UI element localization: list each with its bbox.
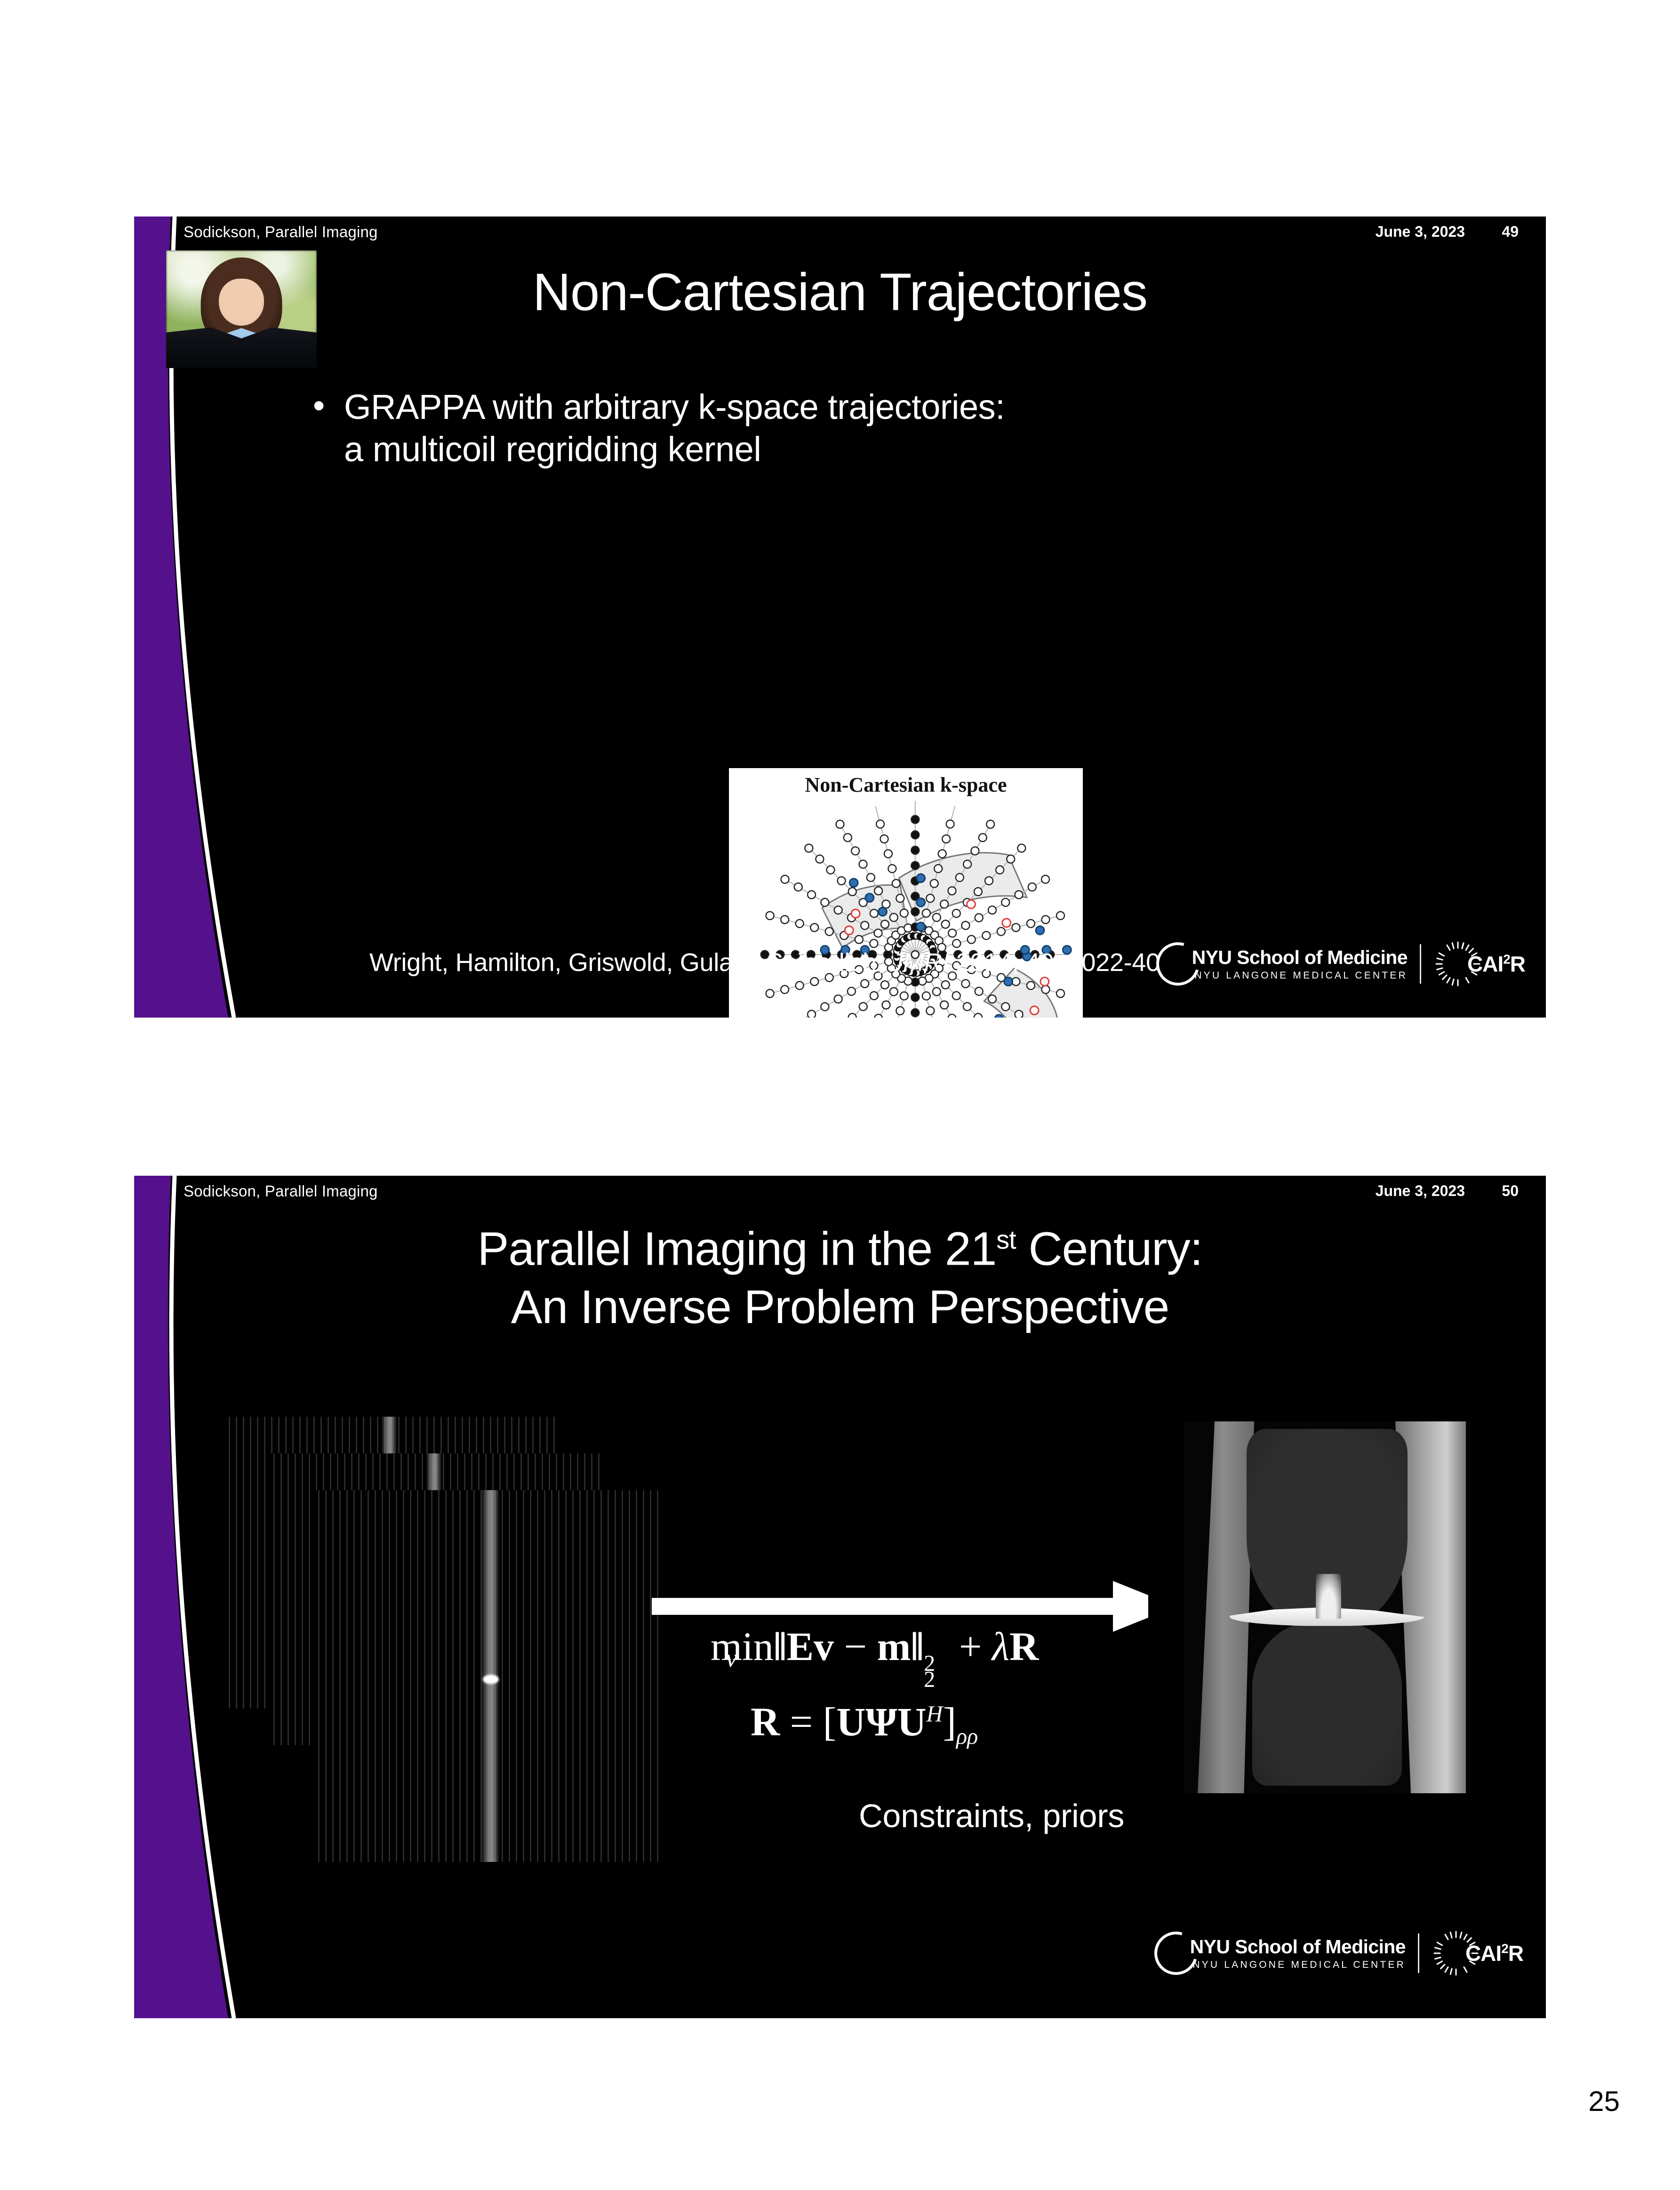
slide-title-line-2: An Inverse Problem Perspective <box>134 1278 1546 1336</box>
slide-header: Sodickson, Parallel Imaging June 3, 2023… <box>134 1176 1546 1210</box>
slide-title: Parallel Imaging in the 21st Century: An… <box>134 1211 1546 1336</box>
footer-logos: NYU School of Medicine NYU LANGONE MEDIC… <box>1157 1929 1523 1978</box>
slide-header: Sodickson, Parallel Imaging June 3, 2023… <box>134 217 1546 250</box>
constraints-priors-label: Constraints, priors <box>859 1797 1124 1835</box>
coil-kspace-image-3 <box>315 1490 659 1862</box>
nyu-logo: NYU School of Medicine NYU LANGONE MEDIC… <box>1157 1929 1406 1978</box>
header-date: June 3, 2023 <box>1376 223 1465 241</box>
nyu-logo-line2: NYU LANGONE MEDICAL CENTER <box>1190 1959 1406 1971</box>
header-slide-number: 50 <box>1502 1182 1519 1200</box>
citation-authors: Wright, Hamilton, Griswold, Gulani, Seib… <box>369 948 890 977</box>
cai2r-burst-icon <box>1432 938 1484 990</box>
logo-divider <box>1420 944 1421 984</box>
bullet-item: • GRAPPA with arbitrary k-space trajecto… <box>313 386 1348 471</box>
multicoil-kspace-stack <box>226 1417 701 1892</box>
cai2r-burst-icon <box>1430 1927 1482 1980</box>
printed-slide-page: Sodickson, Parallel Imaging June 3, 2023… <box>0 0 1680 2190</box>
bullet-marker-icon: • <box>313 386 344 425</box>
slide-title-line-1: Parallel Imaging in the 21st Century: <box>134 1211 1546 1278</box>
header-slide-number: 49 <box>1502 223 1519 241</box>
bullet-line-2: a multicoil regridding kernel <box>344 428 1005 471</box>
nyu-logo-line1: NYU School of Medicine <box>1190 1936 1406 1958</box>
bullet-line-1: GRAPPA with arbitrary k-space trajectori… <box>344 386 1005 428</box>
footer-logos: NYU School of Medicine NYU LANGONE MEDIC… <box>1159 939 1525 988</box>
bullet-text: GRAPPA with arbitrary k-space trajectori… <box>344 386 1005 471</box>
knee-mri-image <box>1184 1421 1471 1793</box>
page-number: 25 <box>1588 2085 1620 2118</box>
regularizer-equation: R = [UΨUH]ρρ <box>751 1698 978 1749</box>
cai2r-logo: CAI2R <box>1433 939 1525 988</box>
header-presenter-label: Sodickson, Parallel Imaging <box>184 223 378 241</box>
objective-equation: minv‖Ev − m‖22 + λR <box>711 1623 1039 1670</box>
nyu-logo: NYU School of Medicine NYU LANGONE MEDIC… <box>1159 939 1408 988</box>
bullet-list: • GRAPPA with arbitrary k-space trajecto… <box>313 386 1348 471</box>
nyu-ring-icon <box>1148 935 1207 993</box>
knee-soft-tissue-left <box>1198 1421 1254 1793</box>
logo-divider <box>1418 1933 1419 1973</box>
figure-citation: Wright, Hamilton, Griswold, Gulani, Seib… <box>369 948 1160 977</box>
reconstructed-knee-mri <box>1148 1421 1506 1845</box>
nyu-ring-icon <box>1146 1924 1205 1982</box>
header-presenter-label: Sodickson, Parallel Imaging <box>184 1182 378 1200</box>
nyu-logo-line1: NYU School of Medicine <box>1192 947 1408 969</box>
min-operator: minv <box>711 1623 774 1670</box>
knee-tibial-spine <box>1316 1574 1342 1619</box>
header-date: June 3, 2023 <box>1376 1182 1465 1200</box>
slide-title: Non-Cartesian Trajectories <box>134 262 1546 322</box>
kspace-diagram-svg: kx ky <box>729 768 1083 1018</box>
nyu-logo-line2: NYU LANGONE MEDICAL CENTER <box>1192 970 1408 981</box>
citation-details: 2014; 40: 1022-40 <box>949 948 1160 977</box>
slide-50: Sodickson, Parallel Imaging June 3, 2023… <box>134 1176 1546 2018</box>
citation-journal: JMRI <box>890 948 949 977</box>
slide-49: Sodickson, Parallel Imaging June 3, 2023… <box>134 217 1546 1018</box>
knee-tibia <box>1252 1622 1401 1786</box>
cai2r-logo: CAI2R <box>1432 1929 1523 1978</box>
non-cartesian-kspace-figure: Non-Cartesian k-space <box>722 762 1089 1018</box>
